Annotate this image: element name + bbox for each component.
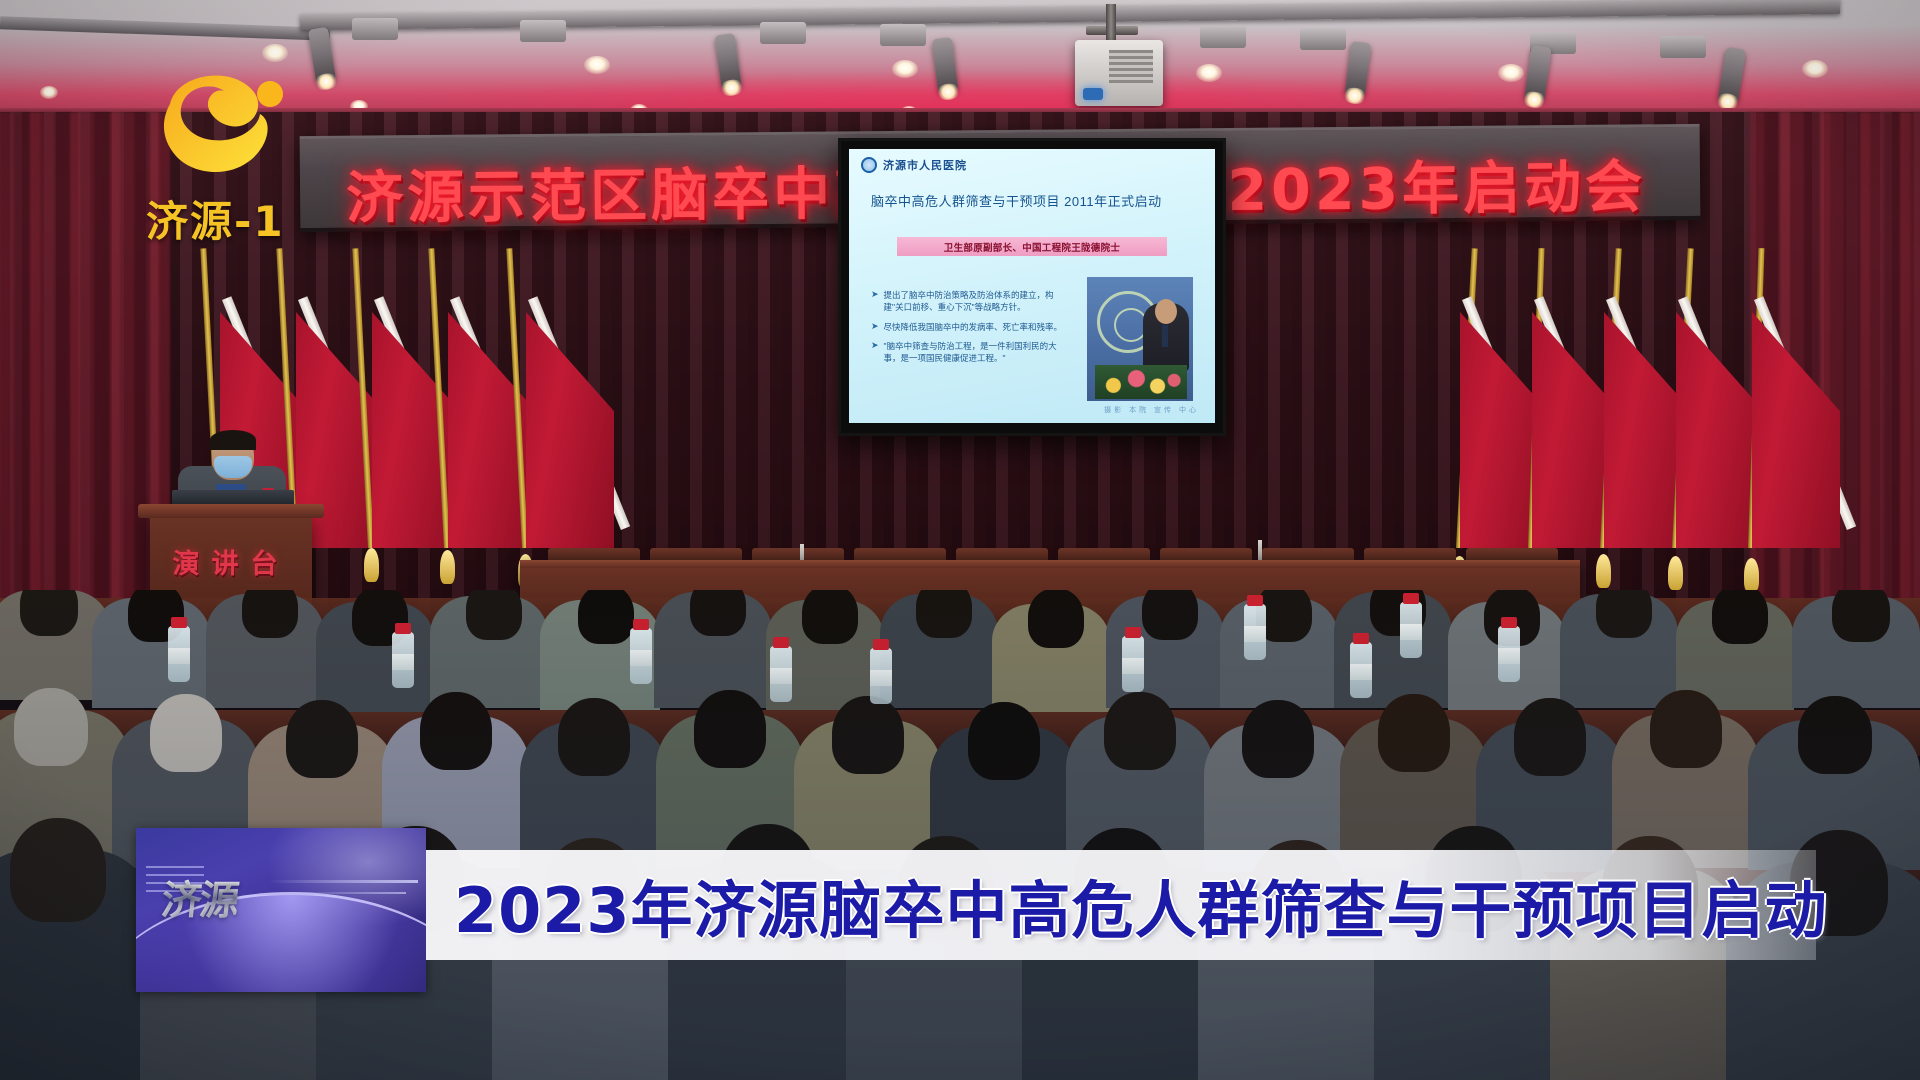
ceiling-light — [584, 56, 610, 74]
audience-member-head — [1832, 590, 1890, 642]
audience-member-head — [558, 698, 630, 776]
water-bottle — [168, 626, 190, 682]
slide-bullet: ➤ 提出了脑卒中防治策略及防治体系的建立，构建"关口前移、重心下沉"等战略方针。 — [871, 289, 1071, 314]
chevron-right-icon: ➤ — [871, 340, 879, 365]
flag-spear-tip — [1744, 558, 1759, 592]
audience-member-head — [1378, 694, 1450, 772]
track-clip — [880, 24, 926, 46]
face-mask-icon — [214, 456, 252, 478]
track-clip — [352, 18, 398, 40]
water-bottle — [630, 628, 652, 684]
hospital-seal-icon — [861, 157, 877, 173]
chevron-right-icon: ➤ — [871, 321, 879, 333]
podium-speaker-photo-icon — [1087, 277, 1193, 401]
water-bottle — [1122, 636, 1144, 692]
water-bottle — [1498, 626, 1520, 682]
water-bottle — [770, 646, 792, 702]
ceiling-light — [1196, 64, 1222, 82]
audience-member-head — [1596, 590, 1652, 638]
ceiling-light — [262, 44, 288, 62]
audience-member-head — [690, 590, 746, 636]
flag-cloth — [526, 312, 614, 548]
projector-lens — [1083, 88, 1103, 100]
flag-cloth — [1752, 312, 1840, 548]
slide-org-header: 济源市人民医院 — [861, 157, 967, 173]
slide-bullet-text: "脑卒中筛查与防治工程，是一件利国利民的大事，是一项国民健康促进工程。" — [884, 340, 1071, 365]
slide-highlight-text: 卫生部原副部长、中国工程院王陇德院士 — [944, 240, 1120, 254]
water-bottle — [1350, 642, 1372, 698]
water-bottle — [870, 648, 892, 704]
audience-member-head — [832, 696, 904, 774]
track-clip — [520, 20, 566, 42]
slide-bullet-text: 提出了脑卒中防治策略及防治体系的建立，构建"关口前移、重心下沉"等战略方针。 — [884, 289, 1071, 314]
slide-bullet: ➤ 尽快降低我国脑卒中的发病率、死亡率和残率。 — [871, 321, 1071, 333]
audience-member-head — [1650, 690, 1722, 768]
flag-spear-tip — [440, 550, 455, 584]
light-track-left — [0, 16, 330, 41]
flag-group-right — [1440, 248, 1910, 548]
channel-logo: 济源-1 — [138, 70, 328, 250]
slide-title: 脑卒中高危人群筛查与干预项目 2011年正式启动 — [871, 191, 1205, 210]
lower-third: 济源 2023年济源脑卒中高危人群筛查与干预项目启动 — [136, 828, 1816, 992]
headline-text: 2023年济源脑卒中高危人群筛查与干预项目启动 — [454, 860, 1828, 950]
audience-member-head — [1142, 590, 1198, 640]
audience-member-head — [1712, 590, 1768, 644]
audience-member-head — [1242, 700, 1314, 778]
projector-vent — [1109, 50, 1153, 84]
audience-member-head — [10, 818, 106, 922]
slide-footer-watermark: 摄影 本院 宣传 中心 — [1104, 405, 1199, 415]
podium-top — [138, 504, 324, 518]
slide-bullet: ➤ "脑卒中筛查与防治工程，是一件利国利民的大事，是一项国民健康促进工程。" — [871, 340, 1071, 365]
headline-bar: 2023年济源脑卒中高危人群筛查与干预项目启动 — [426, 850, 1816, 960]
audience-member-head — [286, 700, 358, 778]
audience-member-head — [802, 590, 858, 644]
chevron-right-icon: ➤ — [871, 289, 879, 314]
flag-spear-tip — [1596, 554, 1611, 588]
slide-highlight-bar: 卫生部原副部长、中国工程院王陇德院士 — [897, 237, 1167, 256]
water-bottle — [1244, 604, 1266, 660]
slide-org-name: 济源市人民医院 — [883, 157, 967, 173]
track-clip — [1200, 26, 1246, 48]
track-clip — [1300, 28, 1346, 50]
speaker-hair — [210, 430, 256, 450]
audience-member-head — [916, 590, 972, 638]
audience-member-head — [1104, 692, 1176, 770]
audience-member-head — [968, 702, 1040, 780]
track-clip — [760, 22, 806, 44]
audience-member-head — [20, 590, 78, 636]
audience-member-head — [150, 694, 222, 772]
channel-logo-text: 济源-1 — [146, 188, 285, 249]
audience-member-head — [1028, 590, 1084, 648]
station-ident-box: 济源 — [136, 828, 426, 992]
ident-streak — [268, 880, 418, 883]
water-bottle — [392, 632, 414, 688]
broadcast-frame: 济源示范区脑卒中高危 会暨2023年启动会 — [0, 0, 1920, 1080]
photo-person-tie — [1162, 325, 1168, 347]
ceiling-light — [1498, 64, 1524, 82]
flag-spear-tip — [1668, 556, 1683, 590]
flag-spear-tip — [364, 548, 379, 582]
audience-member-head — [14, 688, 88, 766]
jiyuan-swirl-logo-icon — [152, 70, 302, 192]
audience-member-head — [578, 590, 634, 644]
water-bottle — [1400, 602, 1422, 658]
presentation-slide: 济源市人民医院 脑卒中高危人群筛查与干预项目 2011年正式启动 卫生部原副部长… — [849, 149, 1215, 423]
ceiling-light — [892, 60, 918, 78]
audience-member-head — [694, 690, 766, 768]
track-clip — [1660, 36, 1706, 58]
audience-member-head — [1798, 696, 1872, 774]
podium-plate-text: 演讲台 — [150, 542, 312, 581]
photo-flowers — [1095, 365, 1187, 399]
ceiling-projector-icon — [1075, 40, 1163, 106]
audience-member-head — [420, 692, 492, 770]
slide-bullet-list: ➤ 提出了脑卒中防治策略及防治体系的建立，构建"关口前移、重心下沉"等战略方针。… — [871, 289, 1071, 372]
audience-member-head — [466, 590, 522, 640]
slide-bullet-text: 尽快降低我国脑卒中的发病率、死亡率和残率。 — [884, 321, 1063, 333]
photo-person-head — [1155, 299, 1177, 324]
ceiling-light — [40, 86, 58, 99]
projection-screen: 济源市人民医院 脑卒中高危人群筛查与干预项目 2011年正式启动 卫生部原副部长… — [838, 138, 1226, 436]
ceiling-light — [1802, 60, 1828, 78]
audience-member-head — [242, 590, 298, 638]
audience-member-head — [1514, 698, 1586, 776]
ident-word: 济源 — [159, 868, 241, 926]
